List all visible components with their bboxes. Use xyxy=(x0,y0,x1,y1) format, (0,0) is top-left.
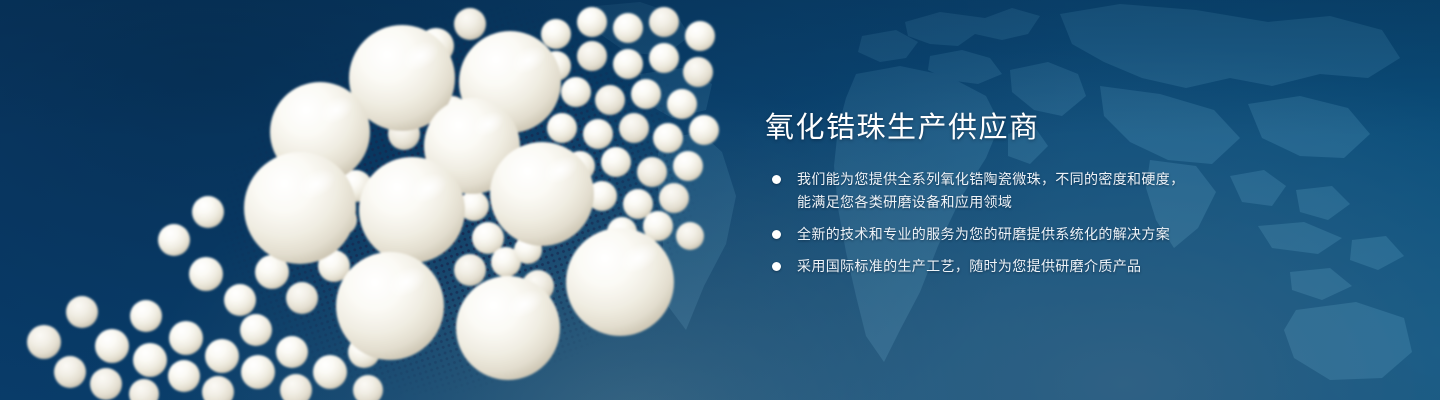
list-item-line: 我们能为您提供全系列氧化锆陶瓷微珠，不同的密度和硬度， xyxy=(797,168,1389,191)
banner-text-block: 氧化锆珠生产供应商 我们能为您提供全系列氧化锆陶瓷微珠，不同的密度和硬度， 能满… xyxy=(765,0,1405,400)
dot-bullet-icon xyxy=(772,262,781,271)
list-item: 采用国际标准的生产工艺，随时为您提供研磨介质产品 xyxy=(769,255,1389,278)
dot-bullet-icon xyxy=(772,230,781,239)
list-item-line: 全新的技术和专业的服务为您的研磨提供系统化的解决方案 xyxy=(797,223,1389,246)
banner-feature-list: 我们能为您提供全系列氧化锆陶瓷微珠，不同的密度和硬度， 能满足您各类研磨设备和应… xyxy=(769,168,1389,278)
dot-bullet-icon xyxy=(772,175,781,184)
list-item-line: 能满足您各类研磨设备和应用领域 xyxy=(797,191,1389,214)
list-item: 我们能为您提供全系列氧化锆陶瓷微珠，不同的密度和硬度， 能满足您各类研磨设备和应… xyxy=(769,168,1389,214)
banner-headline: 氧化锆珠生产供应商 xyxy=(765,110,1040,146)
list-item: 全新的技术和专业的服务为您的研磨提供系统化的解决方案 xyxy=(769,223,1389,246)
zirconia-beads-image xyxy=(0,0,760,400)
hero-banner: 氧化锆珠生产供应商 我们能为您提供全系列氧化锆陶瓷微珠，不同的密度和硬度， 能满… xyxy=(0,0,1440,400)
list-item-line: 采用国际标准的生产工艺，随时为您提供研磨介质产品 xyxy=(797,255,1389,278)
